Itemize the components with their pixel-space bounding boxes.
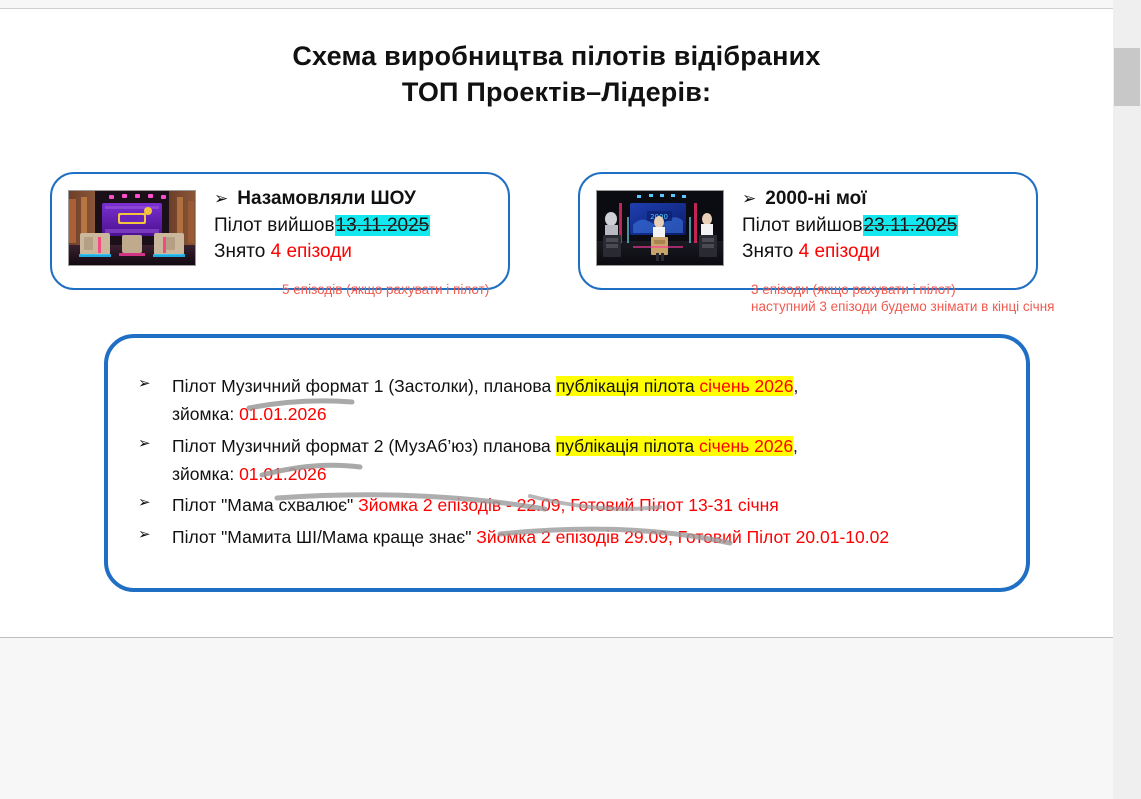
shot-value: 4 епізоди	[799, 241, 880, 262]
item-text-tail: ,	[793, 376, 798, 396]
item-highlight-black: публікація пілота	[556, 436, 699, 456]
show-name: Назамовляли ШОУ	[237, 188, 416, 209]
studio-stage-image: 2000	[597, 191, 723, 265]
card-inner: ➢Назамовляли ШОУ Пілот вийшов13.11.2025 …	[52, 174, 508, 288]
item-highlight-red: січень 2026	[699, 436, 793, 456]
page-title: Схема виробництва пілотів відібраних ТОП…	[0, 39, 1113, 110]
released-label: Пілот вийшов	[214, 215, 335, 236]
vertical-scrollbar[interactable]	[1113, 0, 1141, 799]
released-row: Пілот вийшов13.11.2025	[214, 213, 430, 240]
2000-ni-moyi-thumbnail: 2000	[596, 190, 724, 266]
shoot-date: 01.01.2026	[239, 464, 327, 484]
arrow-bullet-icon: ➢	[138, 432, 172, 456]
card-note-1: 3 епізоди (якщо рахувати і пілот)	[751, 281, 956, 299]
list-item-body: Пілот "Мамита ШІ/Мама краще знає" Зйомка…	[172, 523, 1018, 551]
item-highlight-red: січень 2026	[699, 376, 793, 396]
card-note-2: наступний 3 епізоди будемо знімати в кін…	[751, 298, 1054, 316]
nazamovlyaly-show-thumbnail	[68, 190, 196, 266]
shoot-label: зйомка:	[172, 404, 239, 424]
title-line-2: ТОП Проектів–Лідерів:	[0, 75, 1113, 111]
list-item[interactable]: ➢ Пілот "Мамита ШІ/Мама краще знає" Зйом…	[138, 523, 1018, 551]
scrollbar-thumb[interactable]	[1114, 48, 1140, 106]
shot-label: Знято	[742, 241, 793, 262]
list-item[interactable]: ➢ Пілот "Мама схвалює" Зйомка 2 епізодів…	[138, 491, 1018, 519]
item-highlight-red: Зйомка 2 епізодів - 22.09, Готовий Пілот…	[358, 495, 779, 515]
item-text-tail: ,	[793, 436, 798, 456]
item-text-plain: Пілот "Мамита ШІ/Мама краще знає"	[172, 527, 476, 547]
released-label: Пілот вийшов	[742, 215, 863, 236]
card-title-row: ➢Назамовляли ШОУ	[214, 186, 430, 213]
list-item[interactable]: ➢ Пілот Музичний формат 2 (МузАб’юз) пла…	[138, 432, 1018, 489]
shot-value: 4 епізоди	[271, 241, 352, 262]
title-line-1: Схема виробництва пілотів відібраних	[0, 39, 1113, 75]
arrow-bullet-icon: ➢	[138, 491, 172, 515]
card-text-block: ➢Назамовляли ШОУ Пілот вийшов13.11.2025 …	[214, 186, 430, 266]
shoot-label: зйомка:	[172, 464, 239, 484]
shot-row: Знято 4 епізоди	[742, 239, 958, 266]
window-top-strip	[0, 0, 1113, 9]
pilot-plan-list: ➢ Пілот Музичний формат 1 (Застолки), пл…	[138, 372, 1018, 554]
item-highlight-red: Зйомка 2 епізодів 29.09, Готовий Пілот 2…	[476, 527, 889, 547]
show-card-2000ni[interactable]: 2000	[578, 172, 1038, 290]
arrow-bullet-icon: ➢	[742, 189, 756, 208]
item-second-line: зйомка: 01.01.2026	[172, 400, 1018, 428]
card-text-block: ➢2000-ні мої Пілот вийшов23.11.2025 Знят…	[742, 186, 958, 266]
list-item-body: Пілот "Мама схвалює" Зйомка 2 епізодів -…	[172, 491, 1018, 519]
arrow-bullet-icon: ➢	[138, 523, 172, 547]
arrow-bullet-icon: ➢	[138, 372, 172, 396]
released-date: 13.11.2025	[335, 215, 431, 236]
item-highlight-black: публікація пілота	[556, 376, 699, 396]
slide-canvas: Схема виробництва пілотів відібраних ТОП…	[0, 9, 1113, 638]
item-text-plain: Пілот Музичний формат 1 (Застолки), план…	[172, 376, 556, 396]
show-card-nazamovlyaly[interactable]: ➢Назамовляли ШОУ Пілот вийшов13.11.2025 …	[50, 172, 510, 290]
card-inner: 2000	[580, 174, 1036, 288]
item-second-line: зйомка: 01.01.2026	[172, 460, 1018, 488]
released-date: 23.11.2025	[863, 215, 959, 236]
item-text-plain: Пілот "Мама схвалює"	[172, 495, 358, 515]
show-name: 2000-ні мої	[765, 188, 866, 209]
shoot-date: 01.01.2026	[239, 404, 327, 424]
shot-label: Знято	[214, 241, 265, 262]
card-title-row: ➢2000-ні мої	[742, 186, 958, 213]
item-text-plain: Пілот Музичний формат 2 (МузАб’юз) плано…	[172, 436, 556, 456]
list-item[interactable]: ➢ Пілот Музичний формат 1 (Застолки), пл…	[138, 372, 1018, 429]
shot-row: Знято 4 епізоди	[214, 239, 430, 266]
arrow-bullet-icon: ➢	[214, 189, 228, 208]
pilot-plan-box[interactable]: ➢ Пілот Музичний формат 1 (Застолки), пл…	[104, 334, 1030, 592]
below-slide-area	[0, 638, 1113, 799]
studio-stage-image	[69, 191, 195, 265]
card-note-1: 5 епізодів (якщо рахувати і пілот)	[282, 281, 489, 299]
released-row: Пілот вийшов23.11.2025	[742, 213, 958, 240]
list-item-body: Пілот Музичний формат 1 (Застолки), план…	[172, 372, 1018, 429]
list-item-body: Пілот Музичний формат 2 (МузАб’юз) плано…	[172, 432, 1018, 489]
